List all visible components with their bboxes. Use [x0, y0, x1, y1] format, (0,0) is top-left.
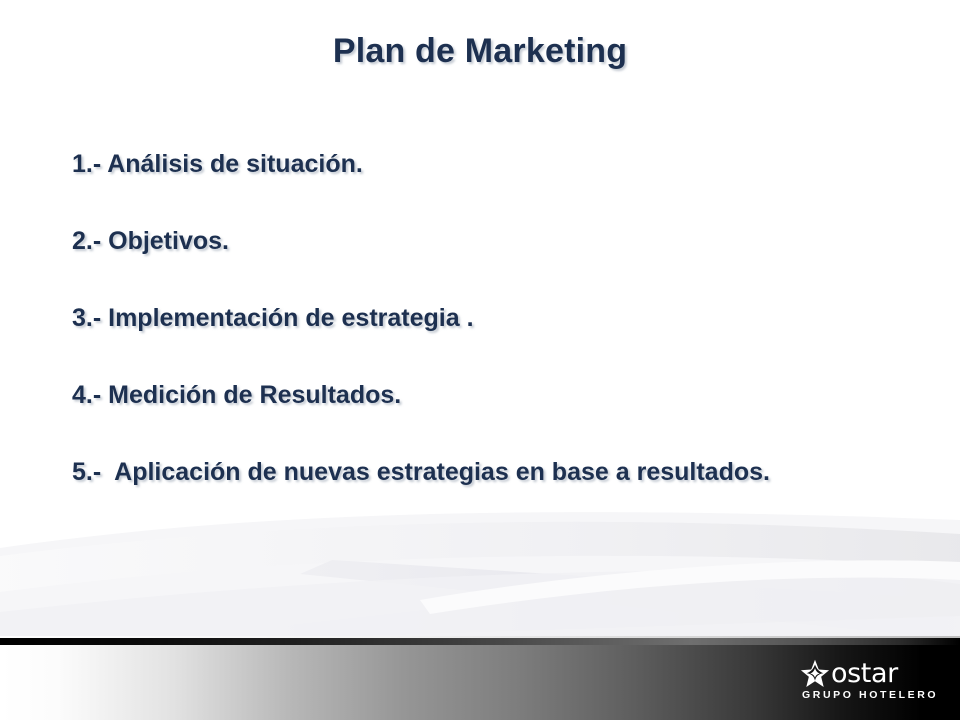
- agenda-item-1: 1.- Análisis de situación.: [72, 146, 862, 182]
- logo-wordmark: ostar: [831, 660, 898, 687]
- agenda-item-3: 3.- Implementación de estrategia .: [72, 300, 862, 336]
- logo-primary-row: ostar: [800, 658, 950, 688]
- star-icon: [800, 659, 830, 688]
- agenda-item-5: 5.- Aplicación de nuevas estrategias en …: [72, 454, 862, 490]
- agenda-item-4: 4.- Medición de Resultados.: [72, 377, 862, 413]
- brand-logo: ostar GRUPO HOTELERO: [800, 658, 950, 710]
- logo-tagline: GRUPO HOTELERO: [802, 689, 950, 701]
- agenda-list: 1.- Análisis de situación. 2.- Objetivos…: [72, 146, 862, 490]
- slide-title: Plan de Marketing: [0, 32, 960, 71]
- agenda-item-2: 2.- Objetivos.: [72, 223, 862, 259]
- presentation-slide: Plan de Marketing 1.- Análisis de situac…: [0, 0, 960, 720]
